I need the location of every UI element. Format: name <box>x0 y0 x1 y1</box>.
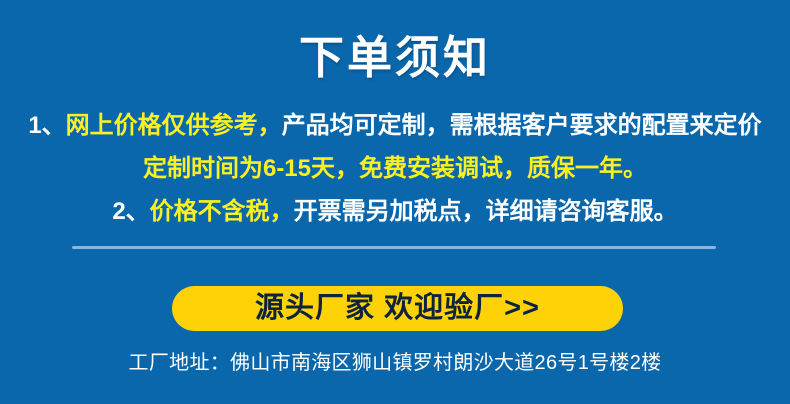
notice-line-1-body: 产品均可定制，需根据客户要求的配置来定价 <box>282 112 762 139</box>
notice-list: 1、网上价格仅供参考，产品均可定制，需根据客户要求的配置来定价 定制时间为6-1… <box>0 104 790 233</box>
section-divider <box>72 246 716 249</box>
notice-line-3-index: 2、 <box>112 198 149 225</box>
notice-line-2: 定制时间为6-15天，免费安装调试，质保一年。 <box>0 147 790 190</box>
notice-line-3-highlight: 价格不含税， <box>150 198 294 225</box>
notice-line-1: 1、网上价格仅供参考，产品均可定制，需根据客户要求的配置来定价 <box>0 104 790 147</box>
page-title: 下单须知 <box>0 32 790 84</box>
notice-line-3-body: 开票需另加税点，详细请咨询客服。 <box>294 198 678 225</box>
notice-line-1-index: 1、 <box>28 112 65 139</box>
notice-line-3: 2、价格不含税，开票需另加税点，详细请咨询客服。 <box>0 190 790 233</box>
factory-visit-cta-label: 源头厂家 欢迎验厂>> <box>255 294 540 323</box>
notice-line-1-highlight: 网上价格仅供参考， <box>66 112 282 139</box>
order-notice-banner: 下单须知 1、网上价格仅供参考，产品均可定制，需根据客户要求的配置来定价 定制时… <box>0 0 790 404</box>
factory-address: 工厂地址：佛山市南海区狮山镇罗村朗沙大道26号1号楼2楼 <box>0 350 790 376</box>
factory-visit-cta-button[interactable]: 源头厂家 欢迎验厂>> <box>172 286 623 331</box>
notice-line-2-highlight: 定制时间为6-15天，免费安装调试，质保一年。 <box>143 155 647 182</box>
